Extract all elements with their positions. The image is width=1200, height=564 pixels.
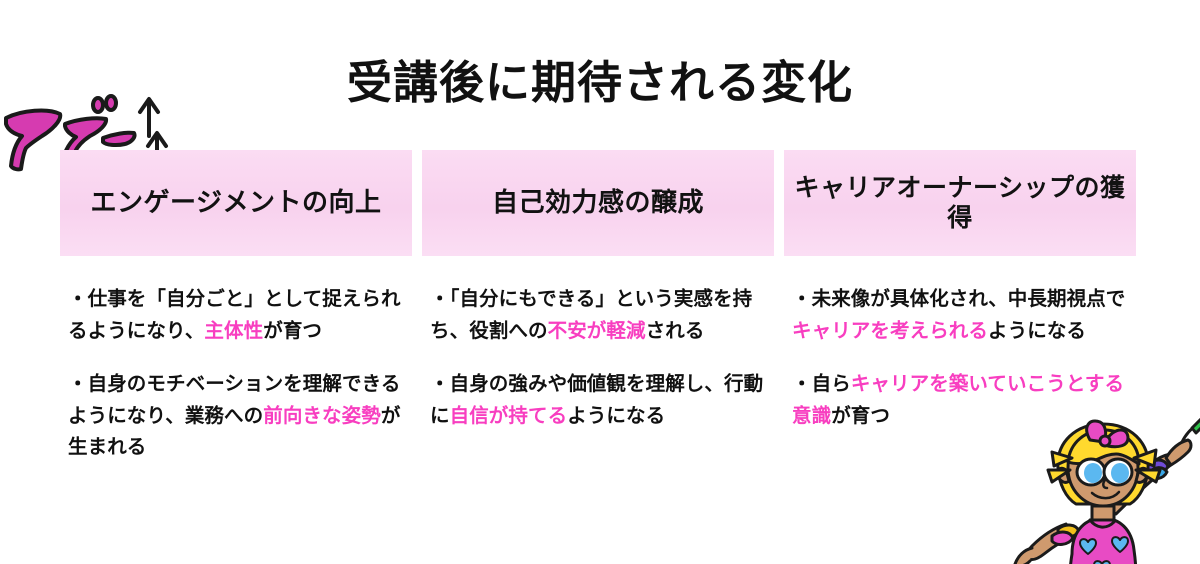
columns-container: エンゲージメントの向上 ・仕事を「自分ごと」として捉えられるようになり、主体性が… <box>60 150 1138 486</box>
bullet-item: ・仕事を「自分ごと」として捉えられるようになり、主体性が育つ <box>60 284 412 347</box>
bullet-item: ・自身のモチベーションを理解できるようになり、業務への前向きな姿勢が生まれる <box>60 369 412 464</box>
bullet-text: ・自ら <box>792 373 851 395</box>
column-self-efficacy: 自己効力感の醸成 ・「自分にもできる」という実感を持ち、役割への不安が軽減される… <box>422 150 774 486</box>
slide-canvas: 受講後に期待される変化 エンゲージメントの向上 ・仕事を「自分ごと」として捉えら… <box>0 0 1200 564</box>
bullet-highlight: 前向きな姿勢 <box>263 405 381 427</box>
bullet-item: ・自身の強みや価値観を理解し、行動に自信が持てるようになる <box>422 369 774 432</box>
column-header-label: 自己効力感の醸成 <box>492 187 704 219</box>
bullet-text: ようになる <box>567 405 665 427</box>
bullet-highlight: 自信が持てる <box>450 405 568 427</box>
column-engagement: エンゲージメントの向上 ・仕事を「自分ごと」として捉えられるようになり、主体性が… <box>60 150 412 486</box>
column-body-engagement: ・仕事を「自分ごと」として捉えられるようになり、主体性が育つ ・自身のモチベーシ… <box>60 256 412 464</box>
mascot-illustration <box>1006 414 1200 564</box>
bullet-item: ・「自分にもできる」という実感を持ち、役割への不安が軽減される <box>422 284 774 347</box>
bullet-text: が育つ <box>263 320 322 342</box>
bullet-highlight: 不安が軽減 <box>548 320 646 342</box>
bullet-highlight: 主体性 <box>204 320 263 342</box>
column-body-self-efficacy: ・「自分にもできる」という実感を持ち、役割への不安が軽減される ・自身の強みや価… <box>422 256 774 432</box>
column-header-career-ownership: キャリアオーナーシップの獲得 <box>784 150 1136 256</box>
cheering-girl-icon <box>1006 414 1200 564</box>
column-header-label: エンゲージメントの向上 <box>91 187 382 219</box>
bullet-text: ようになる <box>988 320 1086 342</box>
column-body-career-ownership: ・未来像が具体化され、中長期視点でキャリアを考えられるようになる ・自らキャリア… <box>784 256 1136 432</box>
bullet-item: ・未来像が具体化され、中長期視点でキャリアを考えられるようになる <box>784 284 1136 347</box>
page-title: 受講後に期待される変化 <box>0 46 1200 111</box>
column-header-engagement: エンゲージメントの向上 <box>60 150 412 256</box>
column-header-self-efficacy: 自己効力感の醸成 <box>422 150 774 256</box>
bullet-text: ・未来像が具体化され、中長期視点で <box>792 288 1125 310</box>
bullet-text: が育つ <box>831 405 890 427</box>
column-header-label: キャリアオーナーシップの獲得 <box>792 173 1128 234</box>
bullet-text: される <box>646 320 705 342</box>
bullet-highlight: キャリアを考えられる <box>792 320 988 342</box>
